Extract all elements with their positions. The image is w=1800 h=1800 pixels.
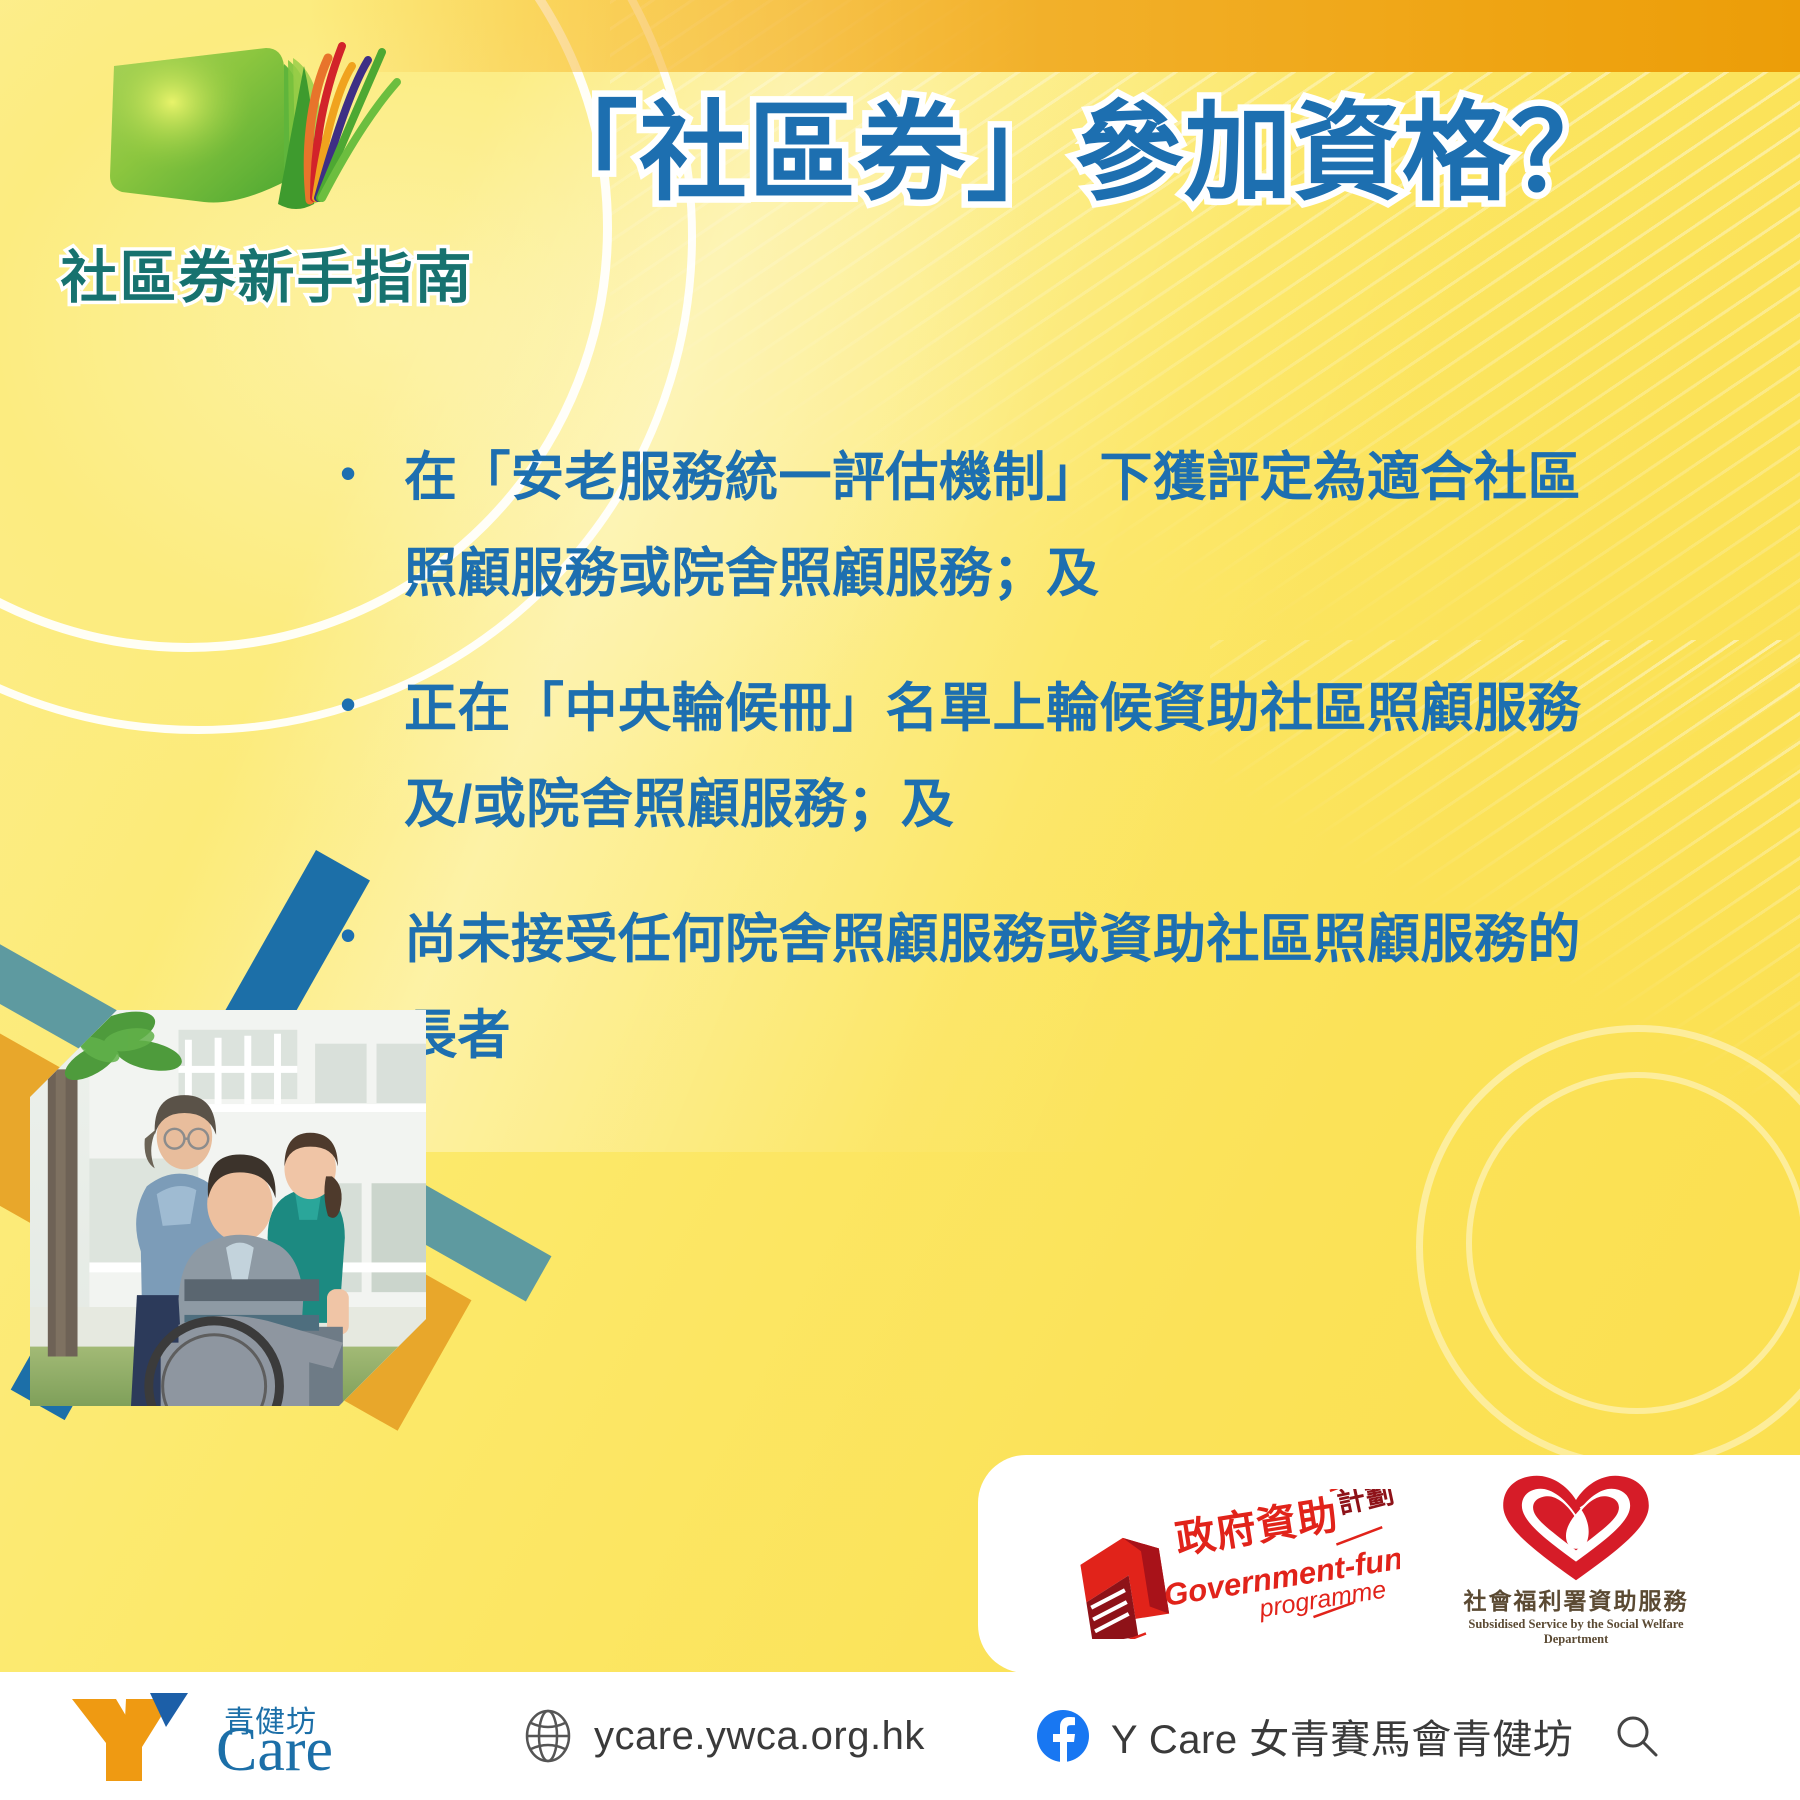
- footer-bar: 青健坊 Care ycare.ywca.org.hk Y Care 女青賽馬會青…: [0, 1672, 1800, 1800]
- social-welfare-department-logo: 社會福利署資助服務 Subsidised Service by the Soci…: [1456, 1472, 1696, 1657]
- ycare-logo-word: Care: [216, 1719, 333, 1781]
- bullet-dot-icon: •: [340, 661, 404, 719]
- poster-canvas: 社區券新手指南 「社區券」參加資格？ • 在「安老服務統一評估機制」下獲評定為適…: [0, 0, 1800, 1800]
- government-funded-programme-logo: 政府資助 計劃 Government-funded programme: [1040, 1489, 1400, 1639]
- photo-hexagon: [30, 1010, 426, 1406]
- book-sprout-logo: [52, 30, 472, 230]
- ycare-y-mark-icon: [64, 1693, 224, 1785]
- facebook-icon: [1037, 1710, 1089, 1762]
- globe-icon: [524, 1709, 572, 1763]
- guide-title: 社區券新手指南: [52, 232, 482, 314]
- website-text: ycare.ywca.org.hk: [594, 1714, 925, 1759]
- list-item: • 正在「中央輪候冊」名單上輪候資助社區照顧服務及/或院舍照顧服務；及: [340, 661, 1600, 854]
- search-icon[interactable]: [1615, 1714, 1659, 1758]
- website-link[interactable]: ycare.ywca.org.hk: [524, 1709, 925, 1763]
- list-item-text: 在「安老服務統一評估機制」下獲評定為適合社區照顧服務或院舍照顧服務；及: [404, 430, 1600, 623]
- swd-heart-icon: [1482, 1472, 1670, 1584]
- bullet-dot-icon: •: [340, 430, 404, 488]
- list-item-text: 正在「中央輪候冊」名單上輪候資助社區照顧服務及/或院舍照顧服務；及: [404, 661, 1600, 854]
- svg-text:政府資助: 政府資助: [1172, 1493, 1341, 1562]
- funders-panel: 政府資助 計劃 Government-funded programme 社會福利: [978, 1455, 1800, 1673]
- ycare-logo: 青健坊 Care: [64, 1693, 344, 1779]
- care-photo: [30, 1010, 426, 1406]
- pale-circle-inner: [1466, 1072, 1800, 1414]
- facebook-text: Y Care 女青賽馬會青健坊: [1111, 1707, 1573, 1765]
- swd-label-cn: 社會福利署資助服務: [1456, 1589, 1696, 1614]
- facebook-link[interactable]: Y Care 女青賽馬會青健坊: [1037, 1707, 1659, 1765]
- svg-text:計劃: 計劃: [1334, 1489, 1397, 1520]
- brand-block: 社區券新手指南: [52, 30, 482, 320]
- list-item: • 在「安老服務統一評估機制」下獲評定為適合社區照顧服務或院舍照顧服務；及: [340, 430, 1600, 623]
- page-title: 「社區券」參加資格？: [530, 96, 1760, 210]
- swd-label-en: Subsidised Service by the Social Welfare…: [1456, 1617, 1696, 1647]
